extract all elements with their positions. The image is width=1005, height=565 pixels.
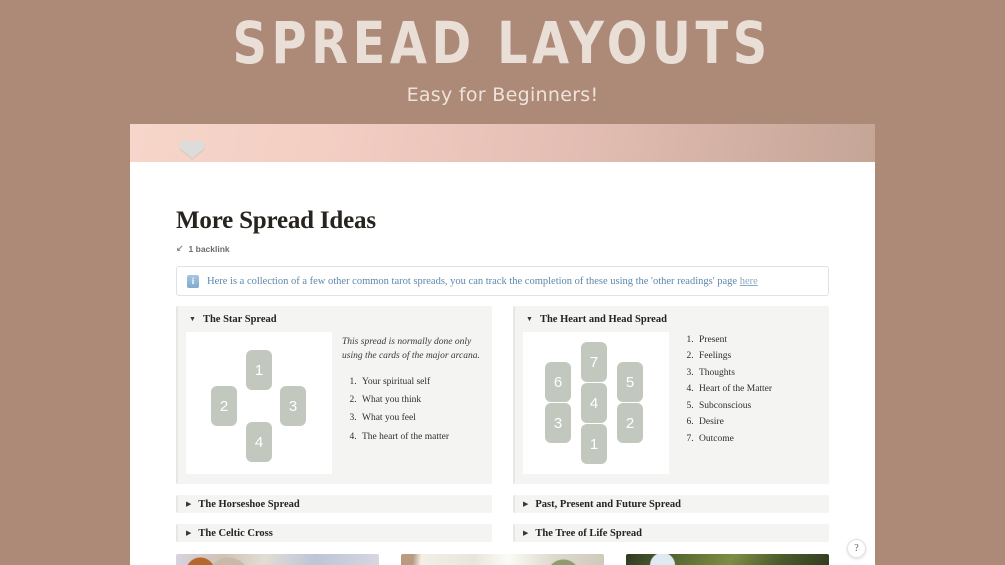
backlink-label: 1 backlink [189, 244, 230, 254]
row-past-present-future-title: Past, Present and Future Spread [535, 499, 681, 510]
left-column: ▼ The Star Spread 1 2 3 4 This spread is… [176, 306, 492, 542]
list-item: Thoughts [696, 369, 819, 379]
chevron-right-icon[interactable]: ▶ [523, 530, 528, 537]
list-item: Present [696, 336, 819, 346]
star-spread-diagram: 1 2 3 4 [186, 332, 332, 474]
info-icon: i [187, 275, 199, 288]
list-item: What you feel [359, 414, 482, 424]
row-tree-of-life-spread[interactable]: ▶ The Tree of Life Spread [513, 524, 829, 542]
callout-here-link[interactable]: here [740, 276, 758, 287]
list-item: Heart of the Matter [696, 385, 819, 395]
list-item: Subconscious [696, 402, 819, 412]
card-position-1: 1 [581, 424, 607, 464]
heart-and-head-details: Present Feelings Thoughts Heart of the M… [679, 332, 819, 474]
list-item: The heart of the matter [359, 433, 482, 443]
callout-message: Here is a collection of a few other comm… [207, 276, 737, 287]
star-spread-intro: This spread is normally done only using … [342, 336, 482, 364]
page-banner: SPREAD LAYOUTS Easy for Beginners! [0, 0, 1005, 124]
heart-and-head-list: Present Feelings Thoughts Heart of the M… [679, 336, 819, 445]
panel-heart-and-head-header[interactable]: ▼ The Heart and Head Spread [523, 314, 819, 325]
tarot-cards-photo[interactable] [176, 554, 379, 565]
panel-star-spread-header[interactable]: ▼ The Star Spread [186, 314, 482, 325]
document-window: ❤ More Spread Ideas ↙ 1 backlink i Here … [130, 124, 875, 565]
document-header-band: ❤ [130, 124, 875, 162]
banner-subtitle: Easy for Beginners! [407, 84, 599, 106]
card-position-6: 6 [545, 362, 571, 402]
backlink[interactable]: ↙ 1 backlink [176, 243, 829, 254]
panel-heart-and-head-body: 7 6 5 4 3 2 1 Present Feelings [523, 332, 819, 474]
chevron-right-icon[interactable]: ▶ [523, 501, 528, 508]
list-item: Your spiritual self [359, 378, 482, 388]
backlink-arrow-icon: ↙ [176, 243, 184, 254]
chevron-down-icon[interactable]: ▼ [189, 316, 196, 323]
trees-sky-photo[interactable] [626, 554, 829, 565]
card-position-2: 2 [211, 386, 237, 426]
card-position-3: 3 [280, 386, 306, 426]
chevron-right-icon[interactable]: ▶ [186, 501, 191, 508]
page-title: More Spread Ideas [176, 162, 829, 233]
card-position-7: 7 [581, 342, 607, 382]
row-horseshoe-spread-title: The Horseshoe Spread [198, 499, 299, 510]
list-item: Feelings [696, 352, 819, 362]
row-tree-of-life-title: The Tree of Life Spread [535, 528, 642, 539]
row-celtic-cross-title: The Celtic Cross [198, 528, 272, 539]
banner-title: SPREAD LAYOUTS [233, 15, 772, 73]
heart-and-head-diagram: 7 6 5 4 3 2 1 [523, 332, 669, 474]
card-position-5: 5 [617, 362, 643, 402]
list-item: What you think [359, 396, 482, 406]
panel-heart-and-head-spread: ▼ The Heart and Head Spread 7 6 5 4 3 2 … [513, 306, 829, 484]
callout-text: Here is a collection of a few other comm… [207, 276, 758, 287]
document-body: More Spread Ideas ↙ 1 backlink i Here is… [130, 162, 875, 565]
list-item: Desire [696, 418, 819, 428]
right-column: ▼ The Heart and Head Spread 7 6 5 4 3 2 … [513, 306, 829, 542]
panel-heart-and-head-title: The Heart and Head Spread [540, 314, 667, 325]
card-position-1: 1 [246, 350, 272, 390]
panel-star-spread: ▼ The Star Spread 1 2 3 4 This spread is… [176, 306, 492, 484]
image-thumbnail-strip [176, 554, 829, 565]
chevron-right-icon[interactable]: ▶ [186, 530, 191, 537]
card-position-3: 3 [545, 403, 571, 443]
row-past-present-future-spread[interactable]: ▶ Past, Present and Future Spread [513, 495, 829, 513]
row-horseshoe-spread[interactable]: ▶ The Horseshoe Spread [176, 495, 492, 513]
panel-star-spread-body: 1 2 3 4 This spread is normally done onl… [186, 332, 482, 474]
star-spread-list: Your spiritual self What you think What … [342, 378, 482, 443]
card-position-4: 4 [246, 422, 272, 462]
card-position-4: 4 [581, 383, 607, 423]
card-position-2: 2 [617, 403, 643, 443]
info-callout: i Here is a collection of a few other co… [176, 266, 829, 296]
row-celtic-cross[interactable]: ▶ The Celtic Cross [176, 524, 492, 542]
chevron-down-icon[interactable]: ▼ [526, 316, 533, 323]
panel-star-spread-title: The Star Spread [203, 314, 277, 325]
star-spread-details: This spread is normally done only using … [342, 332, 482, 474]
spread-panels-grid: ▼ The Star Spread 1 2 3 4 This spread is… [176, 306, 829, 542]
candles-photo[interactable] [401, 554, 604, 565]
help-button[interactable]: ? [847, 539, 866, 558]
list-item: Outcome [696, 435, 819, 445]
